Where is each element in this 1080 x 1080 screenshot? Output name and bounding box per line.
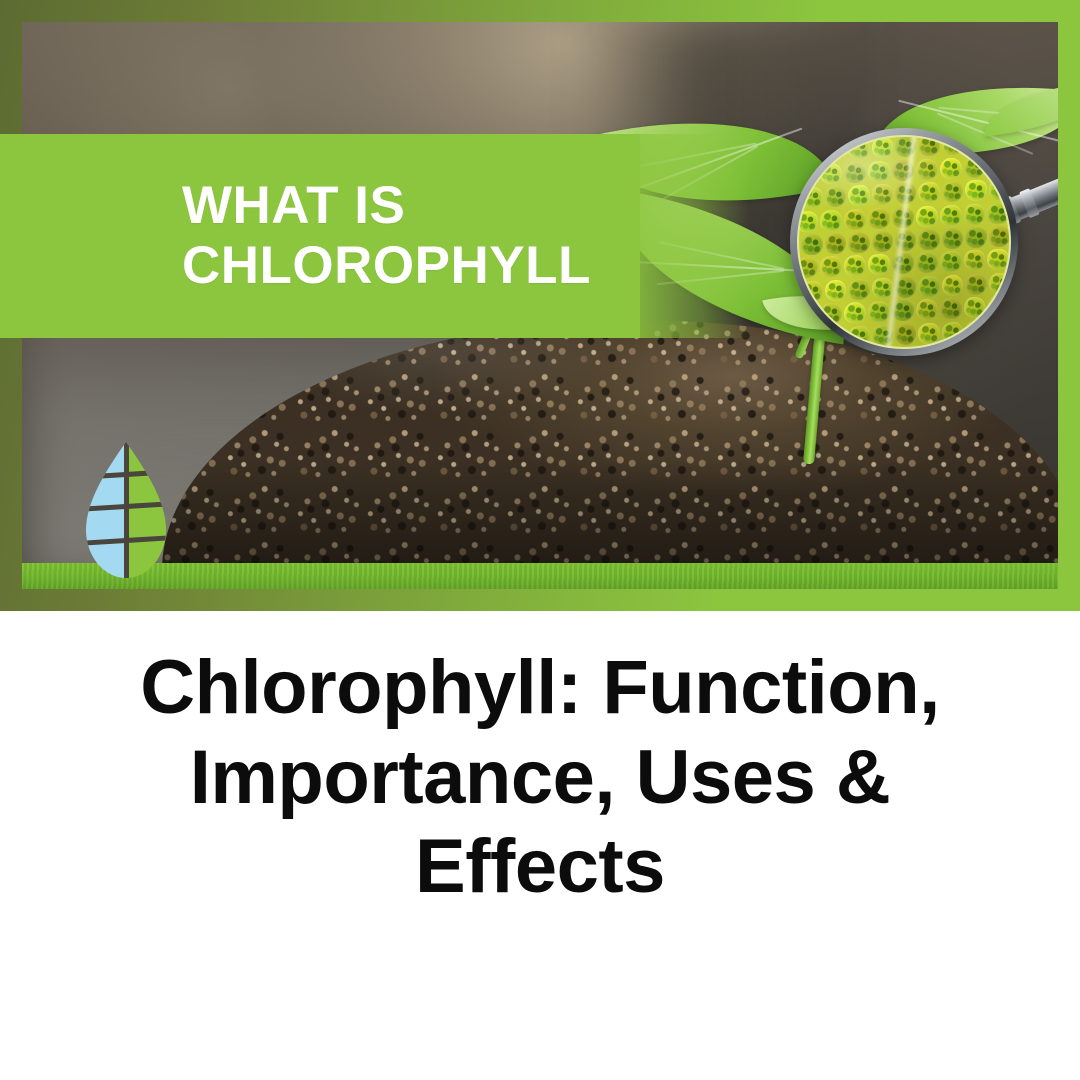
lens-glare <box>799 137 1009 347</box>
chloroplast-cell <box>868 348 890 349</box>
logo-leaf-shape <box>86 442 166 578</box>
chloroplast-cell <box>797 281 799 303</box>
chloroplast-cell <box>987 342 1009 349</box>
chloroplast-cell <box>965 135 986 155</box>
logo-right-half <box>126 442 166 578</box>
chloroplast-cell <box>797 328 799 349</box>
hero-image-card: WHAT IS CHLOROPHYLL <box>0 0 1080 611</box>
chloroplast-cell <box>988 319 1009 341</box>
chloroplast-cell <box>801 327 822 349</box>
chloroplast-cell <box>801 140 822 162</box>
hero-banner: WHAT IS CHLOROPHYLL <box>0 134 640 338</box>
chloroplast-cell <box>987 155 1009 177</box>
magnifier-ferrule <box>1019 188 1040 218</box>
chloroplast-cell <box>939 344 961 349</box>
hero-banner-line-2: CHLOROPHYLL <box>182 239 640 293</box>
chloroplast-cell <box>915 346 937 349</box>
chloroplast-cell <box>963 343 985 349</box>
chloroplast-cell <box>797 163 818 185</box>
hero-banner-line-1: WHAT IS <box>182 179 640 233</box>
article-title-block: Chlorophyll: Function, Importance, Uses … <box>0 611 1080 1080</box>
article-title: Chlorophyll: Function, Importance, Uses … <box>130 643 950 912</box>
chloroplast-cell <box>797 141 799 163</box>
brand-logo[interactable] <box>86 442 166 578</box>
chloroplast-cell <box>868 135 890 136</box>
chloroplast-cell <box>825 326 846 348</box>
frame-right-strip <box>1058 0 1080 611</box>
logo-midrib <box>124 442 129 578</box>
magnifier-lens <box>797 135 1011 349</box>
page-root: WHAT IS CHLOROPHYLL Chlorophyll: Functio… <box>0 0 1080 1080</box>
grass-strip <box>22 563 1060 589</box>
chloroplast-cell <box>797 304 818 326</box>
chloroplast-cell <box>797 188 799 210</box>
magnifying-glass-icon <box>790 128 1028 366</box>
magnifier-ring <box>790 128 1018 356</box>
chloroplast-cell <box>988 135 1009 154</box>
